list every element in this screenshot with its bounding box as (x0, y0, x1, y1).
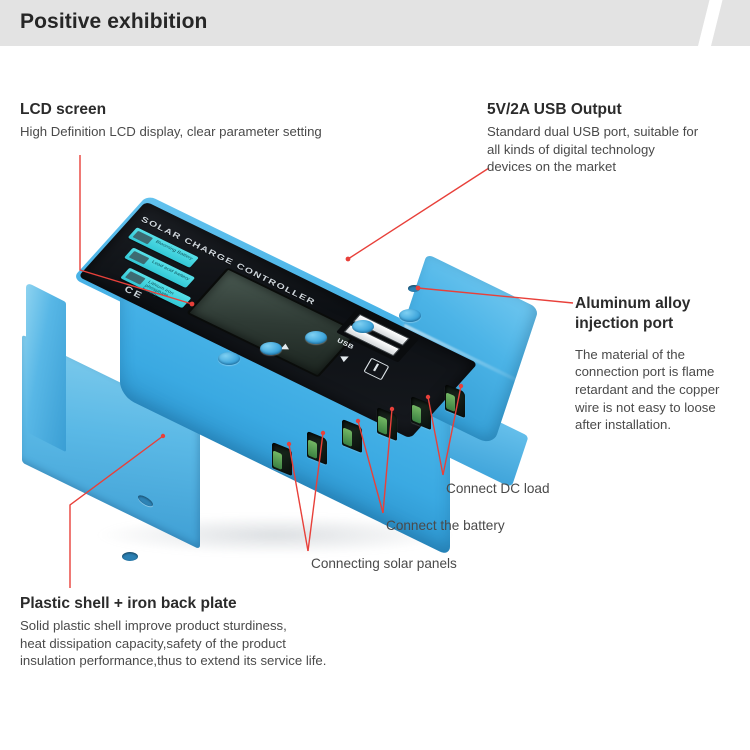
callout-body: High Definition LCD display, clear param… (20, 123, 420, 141)
aluminum-alloy-injection-port-hole (408, 285, 420, 292)
callout-lcd-screen: LCD screen High Definition LCD display, … (20, 100, 420, 141)
callout-usb-output: 5V/2A USB Output Standard dual USB port,… (487, 100, 745, 176)
callout-body: Solid plastic shell improve product stur… (20, 617, 450, 670)
page-header-bar: Positive exhibition (0, 0, 750, 46)
callout-body: Standard dual USB port, suitable for all… (487, 123, 745, 176)
mounting-hole (138, 493, 153, 508)
mounting-hole (122, 552, 138, 561)
callout-plastic-shell-iron-back-plate: Plastic shell + iron back plate Solid pl… (20, 594, 450, 670)
port-tag-connecting-solar-panels: Connecting solar panels (311, 556, 457, 571)
arrow-icon (338, 354, 349, 362)
indicator-led (129, 251, 150, 265)
device-button[interactable] (218, 352, 240, 365)
device-button[interactable] (399, 309, 421, 322)
callout-title: 5V/2A USB Output (487, 100, 745, 120)
device-button[interactable] (352, 320, 374, 333)
indicator-led (125, 271, 146, 285)
port-tag-connect-dc-load: Connect DC load (446, 481, 550, 496)
housing-flange-left (26, 282, 66, 452)
device-button[interactable] (305, 331, 327, 344)
callout-title: LCD screen (20, 100, 420, 120)
device-button[interactable] (260, 342, 282, 355)
callout-body: The material of the connection port is f… (575, 346, 747, 434)
indicator-led (132, 231, 153, 245)
callout-aluminum-alloy-injection-port: Aluminum alloy injection port The materi… (575, 294, 747, 434)
callout-title: Aluminum alloy injection port (575, 294, 747, 334)
port-tag-connect-the-battery: Connect the battery (386, 518, 505, 533)
power-icon (363, 358, 389, 381)
page-title: Positive exhibition (20, 10, 207, 34)
callout-title: Plastic shell + iron back plate (20, 594, 450, 614)
